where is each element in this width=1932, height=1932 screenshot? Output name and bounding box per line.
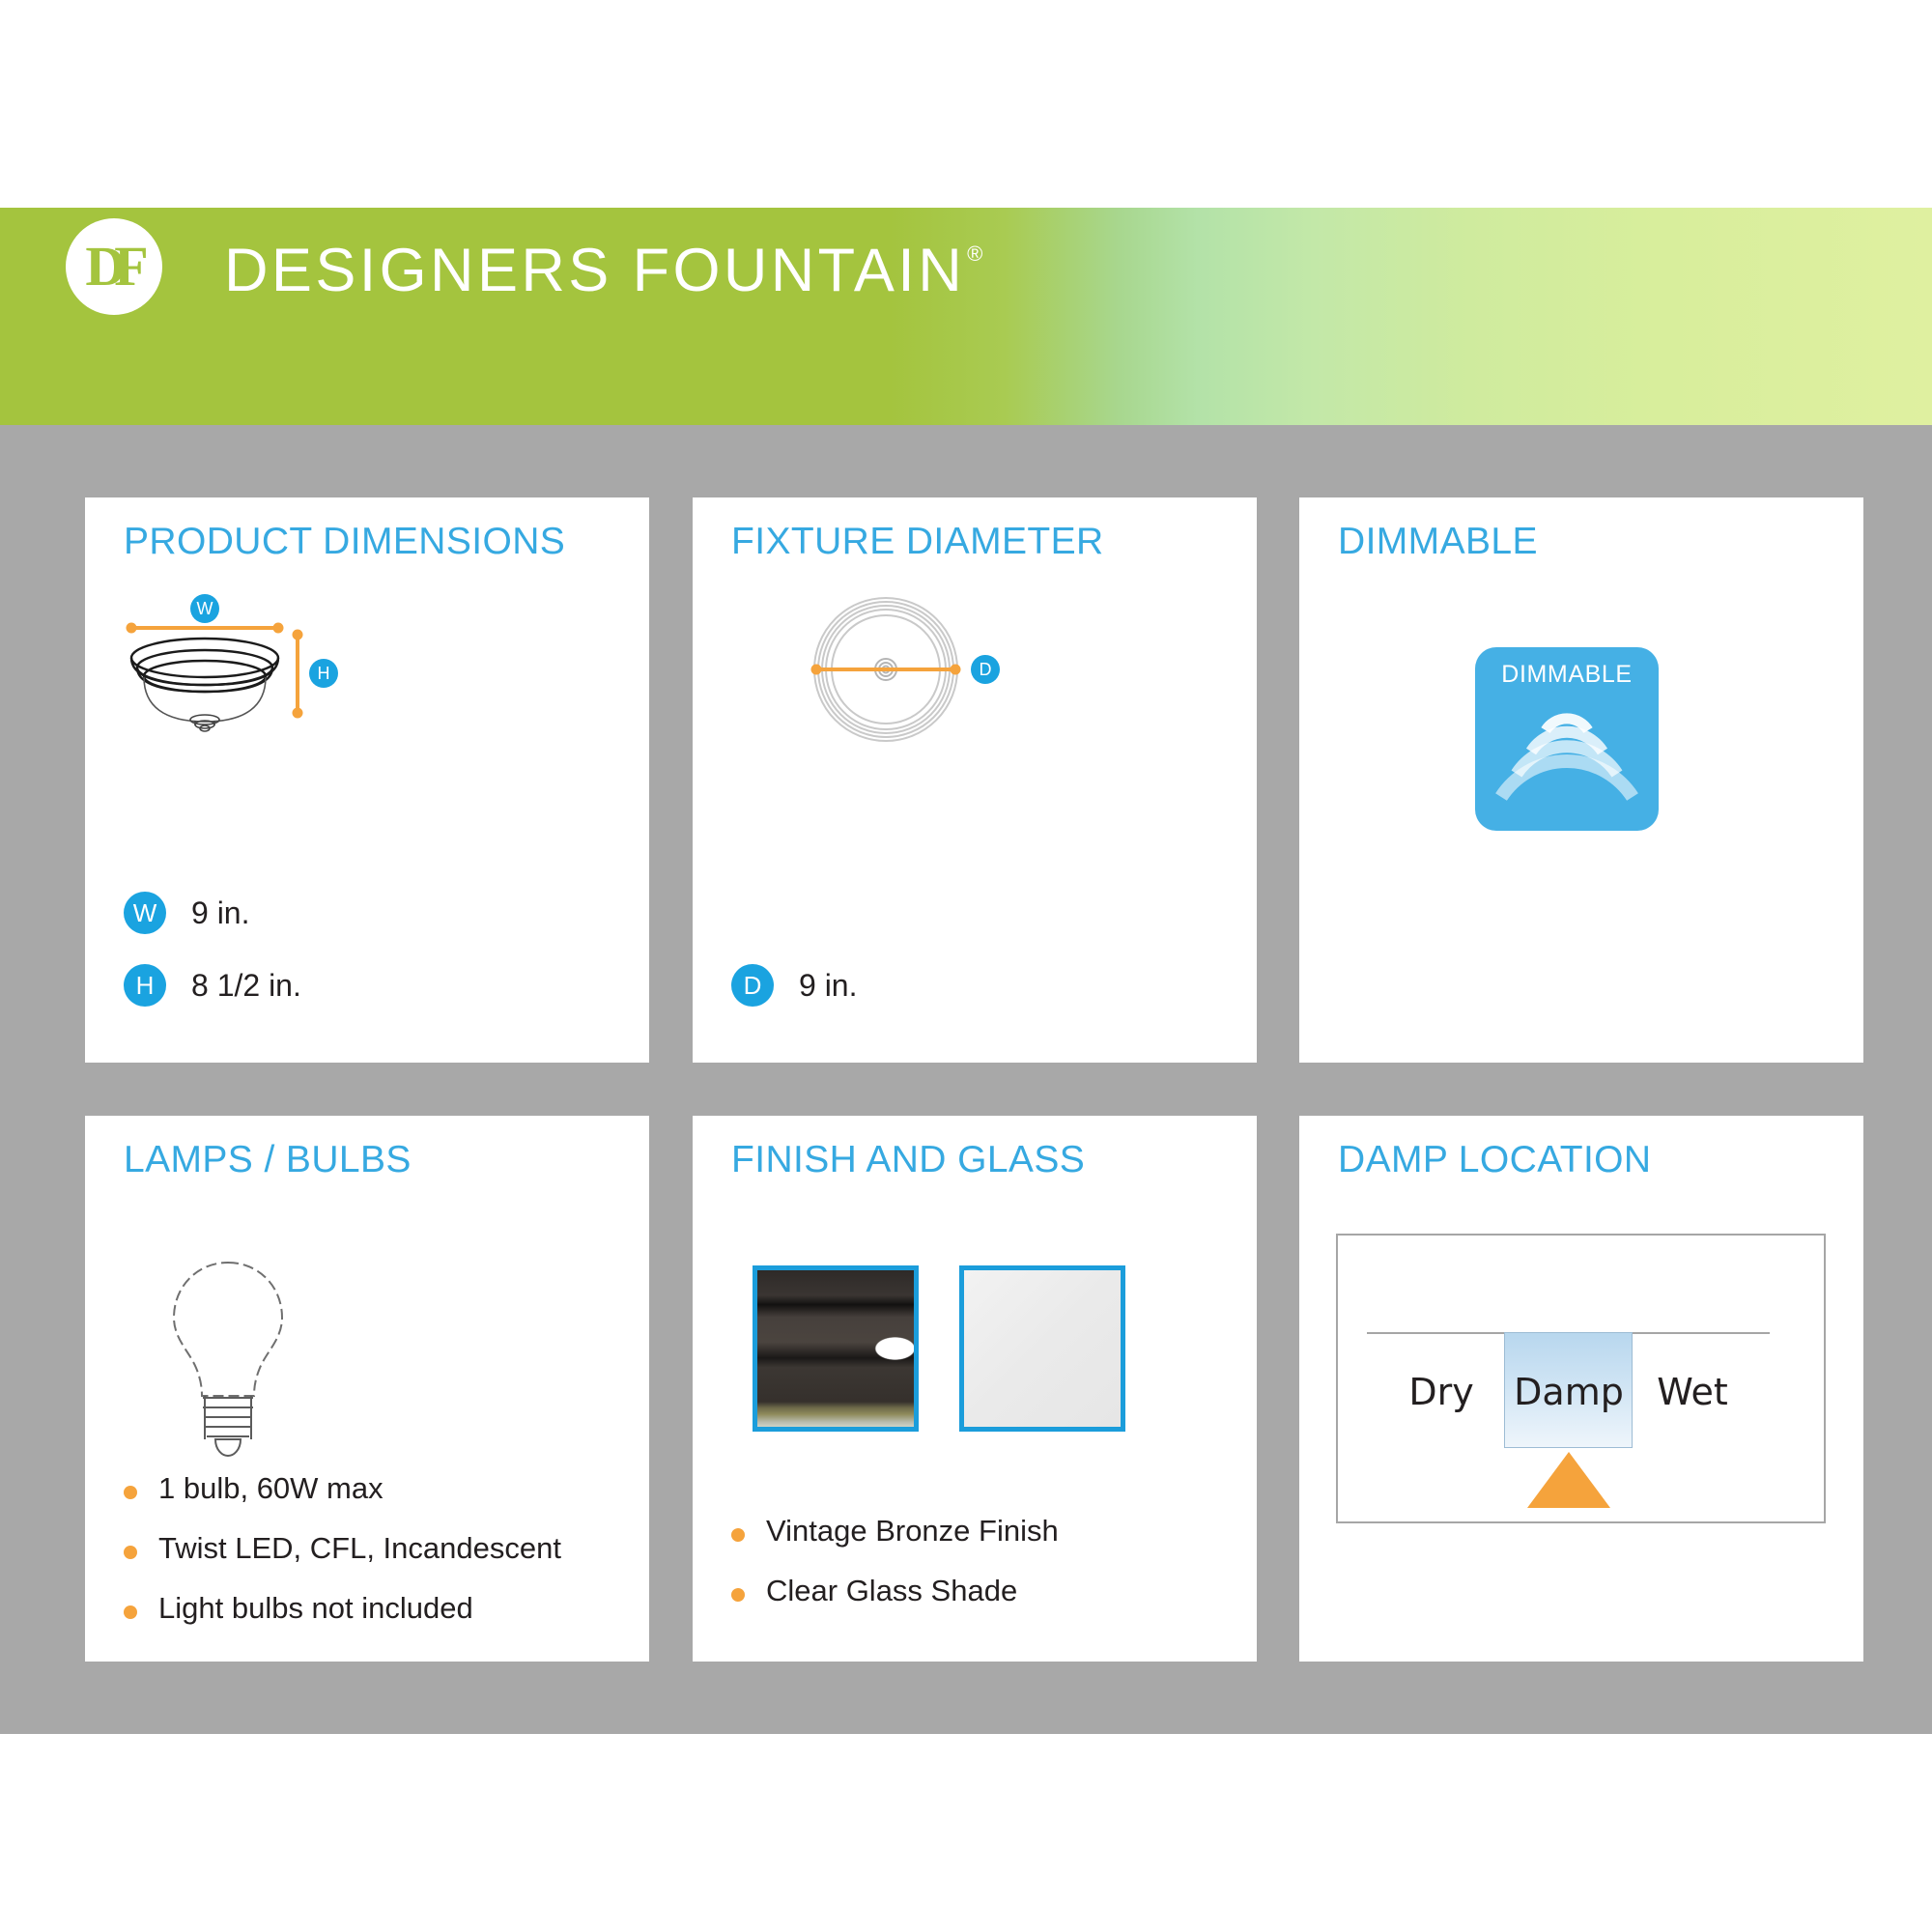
lamps-bullet-list: 1 bulb, 60W max Twist LED, CFL, Incandes… <box>124 1471 561 1651</box>
brand-name-text: DESIGNERS FOUNTAIN <box>224 237 965 304</box>
finish-swatch-glass <box>959 1265 1125 1432</box>
dimmable-icon-label: DIMMABLE <box>1475 661 1659 689</box>
legend-row-width: W 9 in. <box>124 892 249 934</box>
card-title-damp-location: DAMP LOCATION <box>1338 1139 1651 1181</box>
bullet-dot-icon <box>124 1605 137 1619</box>
dimmable-icon: DIMMABLE <box>1475 647 1659 831</box>
list-item: Twist LED, CFL, Incandescent <box>124 1531 561 1566</box>
height-badge-icon: H <box>309 659 338 688</box>
card-dimmable: DIMMABLE DIMMABLE <box>1299 497 1863 1063</box>
fixture-top-view-drawing <box>693 575 1257 802</box>
card-lamps-bulbs: LAMPS / BULBS 1 bulb, 60W max Twist LED,… <box>85 1116 649 1662</box>
lamps-bullet-text: 1 bulb, 60W max <box>158 1471 384 1506</box>
list-item: 1 bulb, 60W max <box>124 1471 561 1506</box>
damp-selection-pointer-icon <box>1527 1452 1610 1508</box>
card-title-fixture-diameter: FIXTURE DIAMETER <box>731 521 1104 563</box>
registered-trademark-icon: ® <box>967 241 986 266</box>
card-title-lamps-bulbs: LAMPS / BULBS <box>124 1139 412 1181</box>
bullet-dot-icon <box>731 1528 745 1542</box>
list-item: Clear Glass Shade <box>731 1574 1059 1608</box>
width-legend-value: 9 in. <box>191 895 249 931</box>
logo-monogram-icon: DF <box>85 239 136 295</box>
card-title-finish-and-glass: FINISH AND GLASS <box>731 1139 1085 1181</box>
card-fixture-diameter: FIXTURE DIAMETER D D 9 in. <box>693 497 1257 1063</box>
lamps-bullet-text: Twist LED, CFL, Incandescent <box>158 1531 561 1566</box>
height-legend-badge-icon: H <box>124 964 166 1007</box>
width-legend-badge-icon: W <box>124 892 166 934</box>
bullet-dot-icon <box>731 1588 745 1602</box>
list-item: Vintage Bronze Finish <box>731 1514 1059 1548</box>
light-bulb-icon <box>122 1241 334 1463</box>
card-title-dimmable: DIMMABLE <box>1338 521 1538 563</box>
product-dimensions-diagram: W H <box>85 575 649 802</box>
card-finish-and-glass: FINISH AND GLASS Vintage Bronze Finish C… <box>693 1116 1257 1662</box>
fixture-diameter-diagram: D <box>693 575 1257 802</box>
bullet-dot-icon <box>124 1546 137 1559</box>
legend-row-height: H 8 1/2 in. <box>124 964 301 1007</box>
finish-bullet-list: Vintage Bronze Finish Clear Glass Shade <box>731 1514 1059 1634</box>
finish-swatch-bronze <box>753 1265 919 1432</box>
card-product-dimensions: PRODUCT DIMENSIONS <box>85 497 649 1063</box>
diameter-badge-icon: D <box>971 655 1000 684</box>
card-title-product-dimensions: PRODUCT DIMENSIONS <box>124 521 565 563</box>
damp-location-diagram: Dry Damp Wet <box>1336 1234 1826 1523</box>
height-legend-value: 8 1/2 in. <box>191 968 301 1004</box>
damp-rating-wet: Wet <box>1639 1371 1746 1413</box>
damp-scale-line-left <box>1367 1332 1506 1334</box>
brand-logo: DF <box>66 218 162 315</box>
width-badge-icon: W <box>190 594 219 623</box>
bullet-dot-icon <box>124 1486 137 1499</box>
legend-row-diameter: D 9 in. <box>731 964 857 1007</box>
list-item: Light bulbs not included <box>124 1591 561 1626</box>
card-damp-location: DAMP LOCATION Dry Damp Wet <box>1299 1116 1863 1662</box>
flush-mount-fixture-drawing <box>85 575 649 802</box>
dimmable-waves-icon <box>1475 697 1659 831</box>
diameter-legend-badge-icon: D <box>731 964 774 1007</box>
finish-bullet-text: Clear Glass Shade <box>766 1574 1017 1608</box>
brand-name: DESIGNERS FOUNTAIN® <box>224 236 984 305</box>
damp-rating-damp: Damp <box>1507 1371 1631 1413</box>
damp-scale-line-right <box>1631 1332 1770 1334</box>
lamps-bullet-text: Light bulbs not included <box>158 1591 473 1626</box>
diameter-legend-value: 9 in. <box>799 968 857 1004</box>
damp-rating-dry: Dry <box>1388 1371 1494 1413</box>
finish-bullet-text: Vintage Bronze Finish <box>766 1514 1059 1548</box>
